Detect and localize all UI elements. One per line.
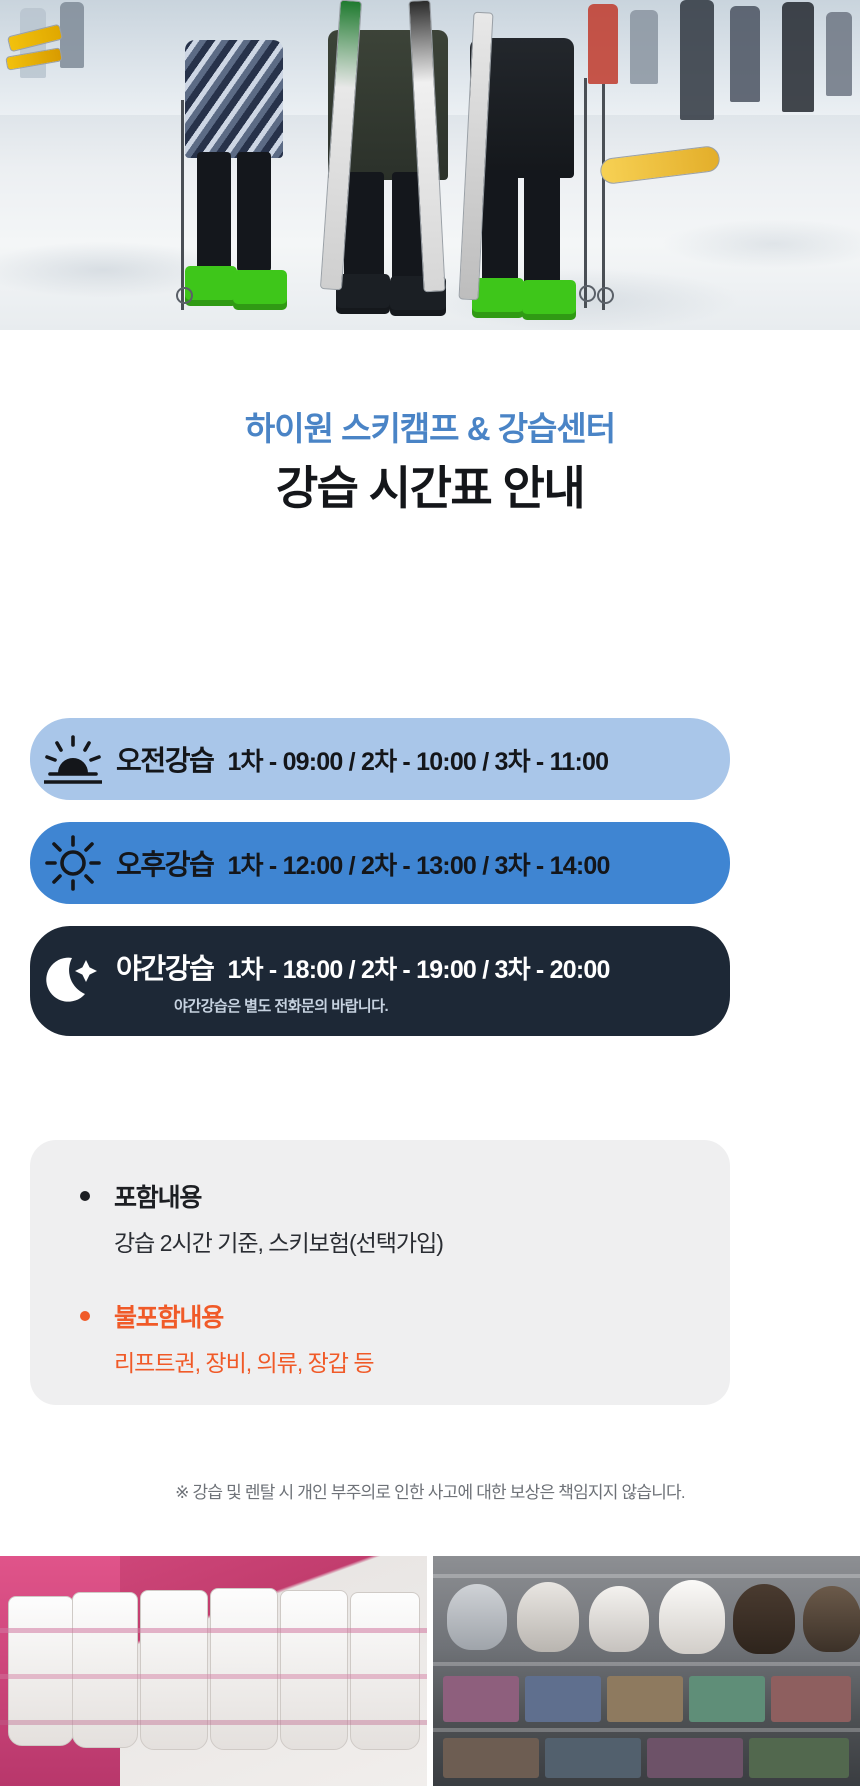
session-label: 오전강습 xyxy=(116,739,213,779)
session-times: 1차 - 12:00 / 2차 - 13:00 / 3차 - 14:00 xyxy=(227,846,609,882)
boot-strap xyxy=(0,1674,427,1679)
ski-boot xyxy=(336,274,390,314)
session-prefix-1: 1차 - xyxy=(227,956,282,984)
snow-pants xyxy=(482,170,518,286)
included-desc: 강습 2시간 기준, 스키보험(선택가입) xyxy=(114,1224,730,1258)
session-sep-2: / xyxy=(476,956,494,984)
spacer xyxy=(80,1272,730,1298)
session-prefix-2: 2차 - xyxy=(361,956,416,984)
included-item: 포함내용 강습 2시간 기준, 스키보험(선택가입) xyxy=(80,1178,730,1258)
boot-strap xyxy=(0,1720,427,1725)
schedule-row-night[interactable]: 야간강습 1차 - 18:00 / 2차 - 19:00 / 3차 - 20:0… xyxy=(30,926,730,1036)
schedule-list: 오전강습 1차 - 09:00 / 2차 - 10:00 / 3차 - 11:0… xyxy=(30,718,830,1058)
session-time-2: 10:00 xyxy=(416,748,476,776)
session-time-1: 18:00 xyxy=(283,956,343,984)
session-prefix-1: 1차 - xyxy=(227,748,282,776)
crowd-figure xyxy=(680,0,714,120)
fur-hat xyxy=(447,1584,507,1650)
skier-center xyxy=(320,30,470,330)
hero-photo xyxy=(0,0,860,330)
boot-strap xyxy=(0,1628,427,1633)
shelf-line xyxy=(433,1662,860,1666)
ski-boot xyxy=(233,270,287,310)
session-prefix-3: 3차 - xyxy=(494,852,549,880)
merch-bin xyxy=(689,1676,765,1722)
sun-icon xyxy=(30,835,116,891)
schedule-row-line: 오전강습 1차 - 09:00 / 2차 - 10:00 / 3차 - 11:0… xyxy=(116,739,716,779)
session-times: 1차 - 09:00 / 2차 - 10:00 / 3차 - 11:00 xyxy=(227,742,608,778)
merch-bin xyxy=(771,1676,851,1722)
included-title: 포함내용 xyxy=(114,1178,201,1214)
session-time-1: 09:00 xyxy=(283,748,343,776)
crowd-figure xyxy=(826,12,852,96)
fur-hat xyxy=(803,1586,860,1652)
session-sep-1: / xyxy=(343,956,361,984)
fur-hat xyxy=(659,1580,725,1654)
crowd-figure xyxy=(730,6,760,102)
session-label: 야간강습 xyxy=(116,947,213,987)
crowd-figure xyxy=(588,4,618,84)
ski-pole xyxy=(602,84,605,310)
night-session-note: 야간강습은 별도 전화문의 바랍니다. xyxy=(116,995,716,1016)
session-prefix-2: 2차 - xyxy=(361,852,416,880)
session-time-2: 13:00 xyxy=(416,852,476,880)
schedule-row-morning[interactable]: 오전강습 1차 - 09:00 / 2차 - 10:00 / 3차 - 11:0… xyxy=(30,718,730,800)
session-sep-2: / xyxy=(476,852,494,880)
ski-boot-item xyxy=(350,1592,420,1750)
session-time-3: 14:00 xyxy=(550,852,610,880)
sunrise-icon xyxy=(30,733,116,785)
session-label: 오후강습 xyxy=(116,843,213,883)
merch-bin xyxy=(607,1676,683,1722)
session-sep-1: / xyxy=(343,852,361,880)
ski-boot-item xyxy=(210,1588,278,1750)
session-sep-1: / xyxy=(343,748,361,776)
snow-pants xyxy=(197,152,231,272)
promo-page: 하이원 스키캠프 & 강습센터 강습 시간표 안내 xyxy=(0,0,860,1786)
bottom-photo-strip xyxy=(0,1556,860,1786)
merch-bin xyxy=(443,1676,519,1722)
merch-bin xyxy=(647,1738,743,1778)
ski-boot xyxy=(522,280,576,320)
winter-hats-photo xyxy=(433,1556,860,1786)
fur-hat xyxy=(589,1586,649,1652)
session-time-1: 12:00 xyxy=(283,852,343,880)
bullet-icon xyxy=(80,1191,90,1201)
session-prefix-3: 3차 - xyxy=(494,956,549,984)
page-title: 강습 시간표 안내 xyxy=(0,461,860,516)
session-time-3: 11:00 xyxy=(550,748,609,776)
excluded-item: 불포함내용 리프트권, 장비, 의류, 장갑 등 xyxy=(80,1298,730,1378)
session-prefix-2: 2차 - xyxy=(361,748,416,776)
inclusions-box: 포함내용 강습 2시간 기준, 스키보험(선택가입) 불포함내용 리프트권, 장… xyxy=(30,1140,730,1405)
merch-bin xyxy=(749,1738,849,1778)
shelf-line xyxy=(433,1728,860,1732)
fur-hat xyxy=(517,1582,579,1652)
schedule-row-body: 야간강습 1차 - 18:00 / 2차 - 19:00 / 3차 - 20:0… xyxy=(116,947,730,1016)
ski-boot-item xyxy=(140,1590,208,1750)
skier-left xyxy=(175,40,295,330)
jacket xyxy=(185,40,283,158)
snow-pants xyxy=(524,170,560,286)
session-prefix-3: 3차 - xyxy=(494,748,549,776)
session-time-3: 20:00 xyxy=(550,956,610,984)
schedule-row-line: 오후강습 1차 - 12:00 / 2차 - 13:00 / 3차 - 14:0… xyxy=(116,843,716,883)
ski-pants xyxy=(344,172,384,282)
excluded-desc: 리프트권, 장비, 의류, 장갑 등 xyxy=(114,1344,730,1378)
ski-boot xyxy=(472,278,524,318)
schedule-row-body: 오후강습 1차 - 12:00 / 2차 - 13:00 / 3차 - 14:0… xyxy=(116,843,730,883)
excluded-title: 불포함내용 xyxy=(114,1298,223,1334)
page-subtitle: 하이원 스키캠프 & 강습센터 xyxy=(0,408,860,449)
schedule-row-body: 오전강습 1차 - 09:00 / 2차 - 10:00 / 3차 - 11:0… xyxy=(116,739,730,779)
merch-bin xyxy=(443,1738,539,1778)
ski-boot xyxy=(185,266,237,306)
crowd-figure xyxy=(630,10,658,84)
crowd-figure xyxy=(60,2,84,68)
ski-pole xyxy=(181,100,184,310)
schedule-row-line: 야간강습 1차 - 18:00 / 2차 - 19:00 / 3차 - 20:0… xyxy=(116,947,716,987)
bullet-icon xyxy=(80,1311,90,1321)
session-prefix-1: 1차 - xyxy=(227,852,282,880)
title-block: 하이원 스키캠프 & 강습센터 강습 시간표 안내 xyxy=(0,330,860,516)
ski-boot-item xyxy=(280,1590,348,1750)
ski-boots-photo xyxy=(0,1556,427,1786)
merch-bin xyxy=(525,1676,601,1722)
moon-star-icon xyxy=(30,950,116,1012)
skier-right xyxy=(460,38,590,330)
snow-pants xyxy=(237,152,271,272)
crowd-figure xyxy=(782,2,814,112)
merch-bin xyxy=(545,1738,641,1778)
excluded-head: 불포함내용 xyxy=(80,1298,730,1334)
fur-hat xyxy=(733,1584,795,1654)
schedule-row-afternoon[interactable]: 오후강습 1차 - 12:00 / 2차 - 13:00 / 3차 - 14:0… xyxy=(30,822,730,904)
liability-disclaimer: ※ 강습 및 렌탈 시 개인 부주의로 인한 사고에 대한 보상은 책임지지 않… xyxy=(0,1478,860,1503)
shelf-line xyxy=(433,1574,860,1578)
session-times: 1차 - 18:00 / 2차 - 19:00 / 3차 - 20:00 xyxy=(227,950,609,986)
session-sep-2: / xyxy=(476,748,494,776)
ski-pole xyxy=(584,78,587,308)
session-time-2: 19:00 xyxy=(416,956,476,984)
included-head: 포함내용 xyxy=(80,1178,730,1214)
